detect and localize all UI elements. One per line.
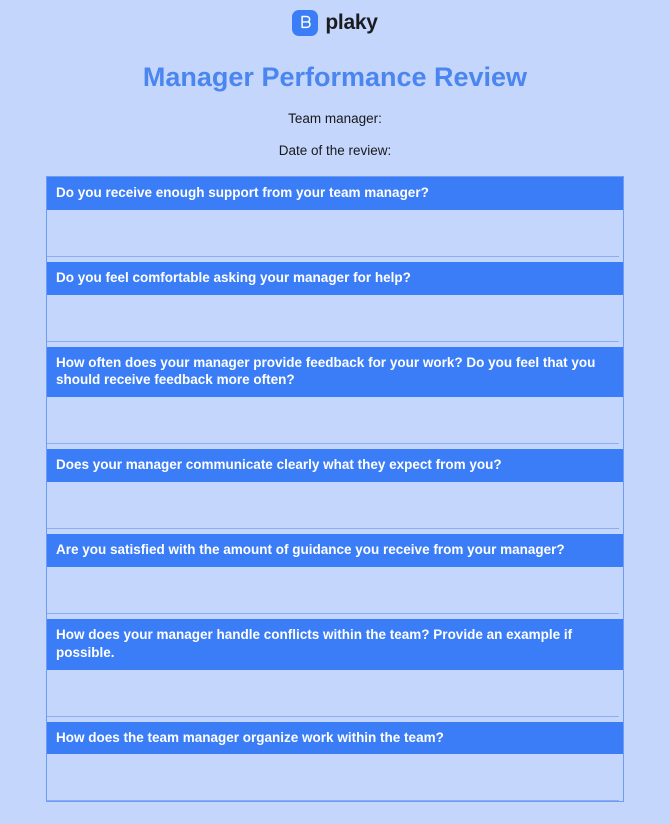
- brand-header: plaky: [0, 0, 670, 38]
- answer-input[interactable]: [47, 754, 619, 801]
- question-text: Do you feel comfortable asking your mana…: [47, 262, 623, 295]
- answer-input[interactable]: [47, 567, 619, 614]
- plaky-logo-icon: [292, 10, 318, 36]
- answer-input[interactable]: [47, 210, 619, 257]
- brand-name: plaky: [325, 12, 377, 33]
- field-label-team-manager: Team manager:: [0, 111, 670, 127]
- answer-input[interactable]: [47, 397, 619, 444]
- field-label-review-date: Date of the review:: [0, 143, 670, 159]
- question-text: How does the team manager organize work …: [47, 722, 623, 755]
- question-text: How often does your manager provide feed…: [47, 347, 623, 398]
- answer-input[interactable]: [47, 482, 619, 529]
- answer-input[interactable]: [47, 295, 619, 342]
- question-block: Are you satisfied with the amount of gui…: [47, 534, 623, 614]
- question-block: Do you feel comfortable asking your mana…: [47, 262, 623, 342]
- question-text: How does your manager handle conflicts w…: [47, 619, 623, 670]
- question-block: How does your manager handle conflicts w…: [47, 619, 623, 717]
- question-block: How often does your manager provide feed…: [47, 347, 623, 445]
- question-block: Does your manager communicate clearly wh…: [47, 449, 623, 529]
- question-text: Do you receive enough support from your …: [47, 177, 623, 210]
- answer-input[interactable]: [47, 670, 619, 717]
- review-form-table: Do you receive enough support from your …: [46, 176, 624, 802]
- question-block: How does the team manager organize work …: [47, 722, 623, 802]
- document-page: plaky Manager Performance Review Team ma…: [0, 0, 670, 824]
- page-title: Manager Performance Review: [0, 62, 670, 93]
- question-text: Does your manager communicate clearly wh…: [47, 449, 623, 482]
- question-text: Are you satisfied with the amount of gui…: [47, 534, 623, 567]
- question-block: Do you receive enough support from your …: [47, 177, 623, 257]
